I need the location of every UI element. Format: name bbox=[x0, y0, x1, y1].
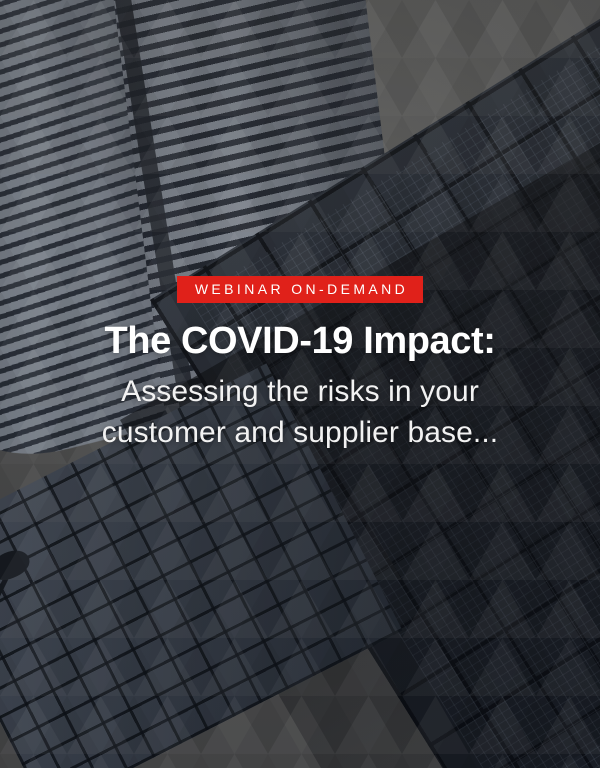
webinar-promo-card: WEBINAR ON-DEMAND The COVID-19 Impact: A… bbox=[0, 0, 600, 768]
page-title: The COVID-19 Impact: bbox=[24, 319, 576, 363]
promo-text-block: WEBINAR ON-DEMAND The COVID-19 Impact: A… bbox=[0, 276, 600, 453]
subtitle: Assessing the risks in your customer and… bbox=[24, 371, 576, 453]
status-badge: WEBINAR ON-DEMAND bbox=[177, 276, 423, 303]
subtitle-line-2: customer and supplier base... bbox=[24, 412, 576, 453]
subtitle-line-1: Assessing the risks in your bbox=[24, 371, 576, 412]
